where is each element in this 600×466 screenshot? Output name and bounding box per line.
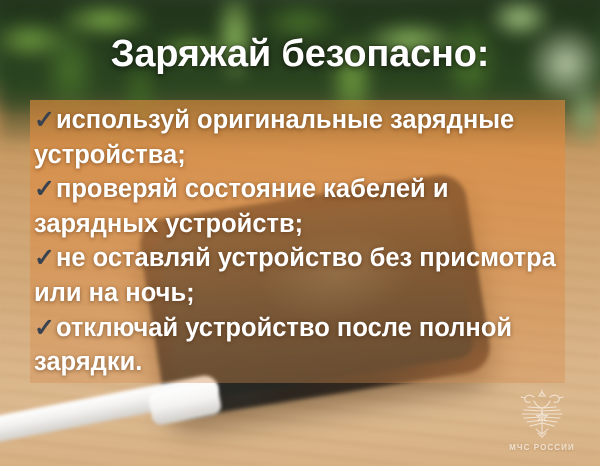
double-headed-eagle-icon bbox=[512, 388, 572, 442]
check-icon: ✓ bbox=[34, 241, 55, 276]
logo-caption: МЧС РОССИИ bbox=[509, 443, 575, 452]
safety-tips-list: ✓используй оригинальные зарядные устройс… bbox=[30, 100, 565, 383]
list-item-text: проверяй состояние кабелей и зарядных ус… bbox=[34, 175, 449, 238]
list-item-text: отключай устройство после полной зарядки… bbox=[34, 314, 512, 377]
safety-poster: Заряжай безопасно: ✓используй оригинальн… bbox=[0, 0, 600, 466]
check-icon: ✓ bbox=[34, 172, 55, 207]
check-icon: ✓ bbox=[34, 311, 55, 346]
list-item-text: не оставляй устройство без присмотра или… bbox=[34, 244, 556, 307]
list-item: ✓не оставляй устройство без присмотра ил… bbox=[34, 241, 565, 310]
list-item: ✓используй оригинальные зарядные устройс… bbox=[34, 103, 565, 172]
list-item: ✓проверяй состояние кабелей и зарядных у… bbox=[34, 172, 565, 241]
page-title: Заряжай безопасно: bbox=[0, 34, 600, 76]
emercom-russia-logo: МЧС РОССИИ bbox=[496, 380, 588, 452]
check-icon: ✓ bbox=[34, 103, 55, 138]
list-item: ✓отключай устройство после полной зарядк… bbox=[34, 311, 565, 380]
list-item-text: используй оригинальные зарядные устройст… bbox=[34, 106, 514, 169]
